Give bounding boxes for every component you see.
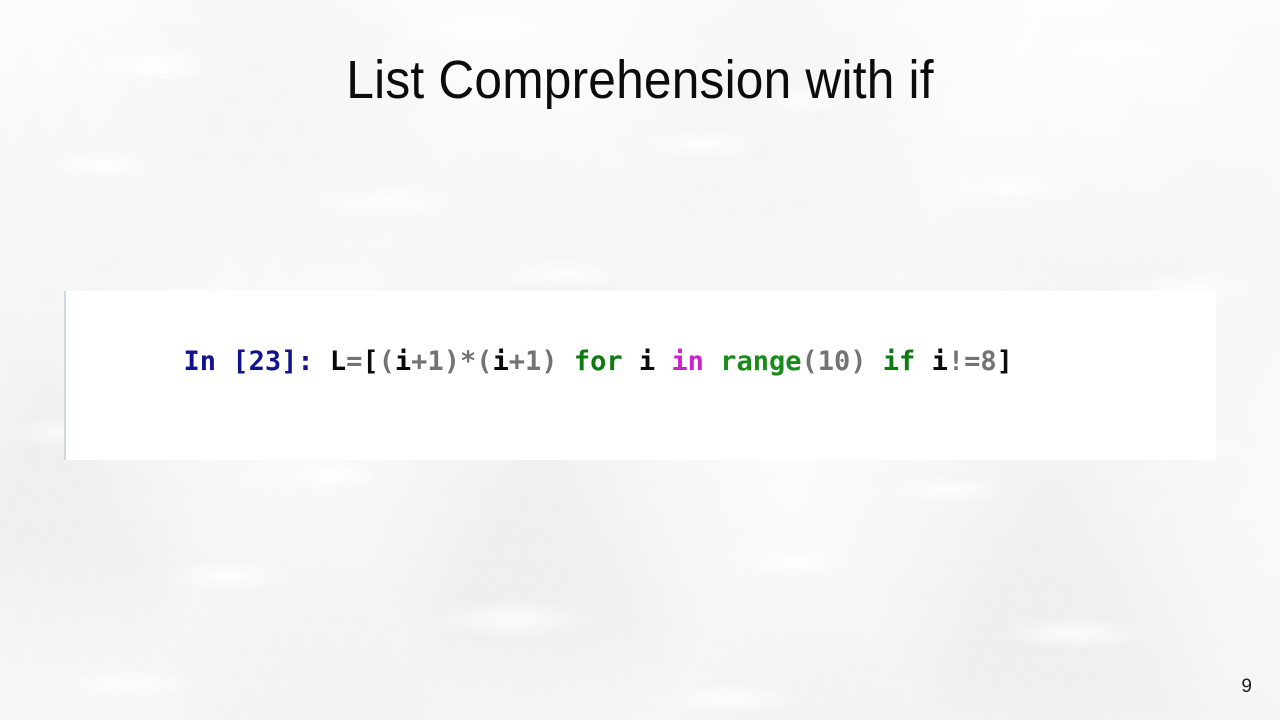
code-token: [ (362, 346, 378, 377)
code-token: + (411, 346, 427, 377)
code-token: 10 (818, 346, 851, 377)
code-token: ) (444, 346, 460, 377)
code-token: i (493, 346, 509, 377)
code-token (867, 346, 883, 377)
code-token: ( (379, 346, 395, 377)
code-token: ] (997, 346, 1013, 377)
code-token: L (314, 346, 347, 377)
code-token (623, 346, 639, 377)
code-line-in-23: In [23]: L=[(i+1)*(i+1) for i in range(1… (86, 309, 1216, 414)
code-token (558, 346, 574, 377)
code-token: 1 (525, 346, 541, 377)
code-token: for (574, 346, 623, 377)
input-prompt-23: In [23]: (184, 346, 314, 377)
code-token: ( (801, 346, 817, 377)
code-token: + (509, 346, 525, 377)
code-token: i (932, 346, 948, 377)
code-line-in-24: In [24]: L (86, 448, 1216, 460)
code-token: i (395, 346, 411, 377)
code-token: in (671, 346, 704, 377)
code-tokens-in-23: L=[(i+1)*(i+1) for i in range(10) if i!=… (314, 346, 1013, 377)
code-token: ) (850, 346, 866, 377)
page-title: List Comprehension with if (51, 52, 1229, 109)
code-token: * (460, 346, 476, 377)
code-token: = (346, 346, 362, 377)
code-token: ) (541, 346, 557, 377)
code-token: if (883, 346, 916, 377)
code-token: != (948, 346, 981, 377)
code-output-panel: In [23]: L=[(i+1)*(i+1) for i in range(1… (64, 291, 1216, 460)
code-token: 1 (427, 346, 443, 377)
slide-number: 9 (1241, 676, 1252, 698)
code-token: ( (476, 346, 492, 377)
code-token: range (720, 346, 801, 377)
code-token (915, 346, 931, 377)
code-token: i (639, 346, 655, 377)
slide: List Comprehension with if In [23]: L=[(… (0, 0, 1280, 720)
code-token: 8 (980, 346, 996, 377)
code-token (655, 346, 671, 377)
code-token (704, 346, 720, 377)
